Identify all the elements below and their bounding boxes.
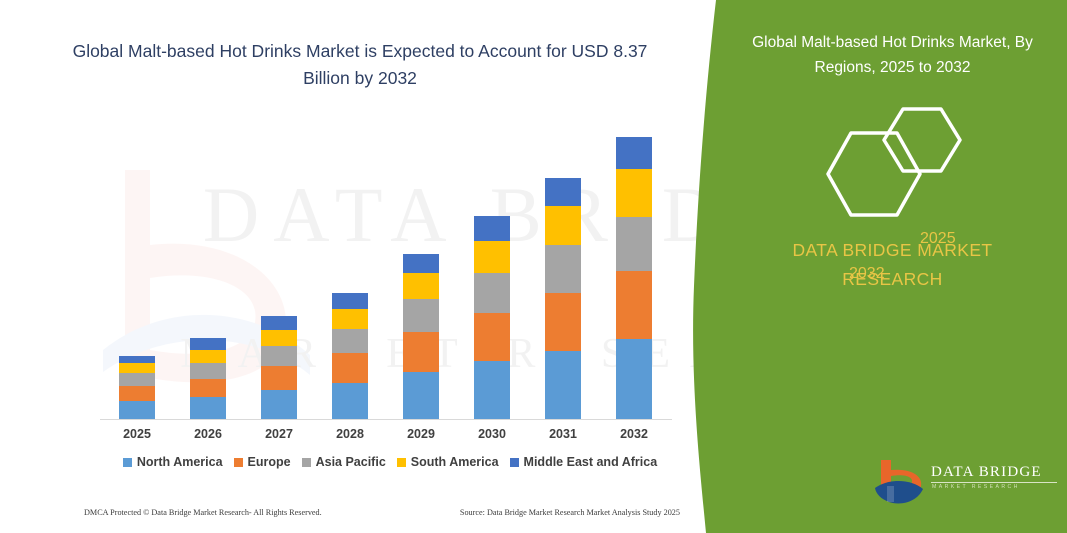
legend-label: North America xyxy=(137,455,223,469)
infographic-canvas: DATA BRIDGE MARKET RESEARCH Global Malt-… xyxy=(0,0,1067,533)
bar-segment-asia-pacific xyxy=(261,346,297,366)
chart-title: Global Malt-based Hot Drinks Market is E… xyxy=(60,38,660,92)
bar-group xyxy=(403,254,439,419)
bar-segment-asia-pacific xyxy=(616,217,652,271)
legend-label: Middle East and Africa xyxy=(524,455,658,469)
x-axis-label: 2032 xyxy=(604,427,664,441)
logo-tagline: MARKET RESEARCH xyxy=(932,484,1020,490)
bar-segment-europe xyxy=(474,313,510,361)
hexagon-large-2032 xyxy=(828,133,920,215)
x-axis-label: 2025 xyxy=(107,427,167,441)
x-axis-label: 2026 xyxy=(178,427,238,441)
bar-group xyxy=(332,293,368,419)
x-axis-line xyxy=(100,419,672,420)
brand-name: DATA BRIDGE MARKET RESEARCH xyxy=(730,236,1055,294)
bar-segment-asia-pacific xyxy=(545,245,581,293)
bar-segment-south-america xyxy=(190,350,226,363)
bar-segment-europe xyxy=(403,332,439,372)
bar-segment-europe xyxy=(190,379,226,397)
legend-item-south-america[interactable]: South America xyxy=(397,455,499,469)
legend-swatch-icon xyxy=(123,458,132,467)
bar-segment-south-america xyxy=(545,206,581,245)
legend-item-middle-east-and-africa[interactable]: Middle East and Africa xyxy=(510,455,658,469)
brand-panel-title: Global Malt-based Hot Drinks Market, By … xyxy=(730,30,1055,80)
x-axis-label: 2031 xyxy=(533,427,593,441)
legend-swatch-icon xyxy=(510,458,519,467)
bar-segment-europe xyxy=(261,366,297,390)
bar-segment-north-america xyxy=(332,383,368,419)
bar-segment-middle-east-and-africa xyxy=(616,137,652,169)
x-axis-label: 2027 xyxy=(249,427,309,441)
bar-segment-europe xyxy=(545,293,581,351)
chart-plot-area xyxy=(100,110,680,420)
brand-name-line-1: DATA BRIDGE MARKET xyxy=(730,236,1055,265)
bar-group xyxy=(119,356,155,419)
x-axis-labels: 20252026202720282029203020312032 xyxy=(100,427,680,445)
bar-group xyxy=(261,316,297,419)
bar-group xyxy=(545,178,581,419)
x-axis-label: 2028 xyxy=(320,427,380,441)
bar-segment-asia-pacific xyxy=(190,363,226,379)
bar-segment-middle-east-and-africa xyxy=(332,293,368,309)
bar-segment-south-america xyxy=(403,273,439,299)
bar-segment-asia-pacific xyxy=(119,373,155,386)
logo-divider xyxy=(931,482,1057,483)
bar-segment-middle-east-and-africa xyxy=(261,316,297,330)
bar-segment-asia-pacific xyxy=(332,329,368,353)
chart-panel: Global Malt-based Hot Drinks Market is E… xyxy=(0,0,720,533)
bar-segment-north-america xyxy=(474,361,510,419)
data-bridge-logo: DATA BRIDGE MARKET RESEARCH xyxy=(873,458,1063,510)
bar-segment-middle-east-and-africa xyxy=(474,216,510,241)
bar-segment-asia-pacific xyxy=(403,299,439,332)
x-axis-label: 2030 xyxy=(462,427,522,441)
bar-segment-middle-east-and-africa xyxy=(545,178,581,206)
bar-group xyxy=(474,216,510,419)
hexagon-small-2025 xyxy=(884,109,960,171)
legend-item-asia-pacific[interactable]: Asia Pacific xyxy=(302,455,386,469)
bar-group xyxy=(190,338,226,419)
brand-panel-content: Global Malt-based Hot Drinks Market, By … xyxy=(725,0,1067,533)
legend-label: South America xyxy=(411,455,499,469)
bar-segment-europe xyxy=(332,353,368,383)
bar-segment-south-america xyxy=(616,169,652,217)
bar-segment-middle-east-and-africa xyxy=(119,356,155,363)
x-axis-label: 2029 xyxy=(391,427,451,441)
bar-segment-south-america xyxy=(332,309,368,329)
footer-copyright: DMCA Protected © Data Bridge Market Rese… xyxy=(84,508,322,517)
legend-swatch-icon xyxy=(302,458,311,467)
hexagon-shapes-icon xyxy=(815,105,1005,220)
bar-segment-south-america xyxy=(119,363,155,373)
bar-segment-middle-east-and-africa xyxy=(403,254,439,273)
data-bridge-mark-icon xyxy=(873,458,925,506)
bar-segment-north-america xyxy=(545,351,581,419)
footer: DMCA Protected © Data Bridge Market Rese… xyxy=(84,508,680,517)
bar-segment-north-america xyxy=(403,372,439,419)
bar-segment-north-america xyxy=(190,397,226,419)
legend-swatch-icon xyxy=(397,458,406,467)
bar-segment-south-america xyxy=(474,241,510,273)
bar-segment-north-america xyxy=(119,401,155,419)
bar-segment-europe xyxy=(616,271,652,339)
legend-label: Europe xyxy=(248,455,291,469)
hexagon-group: 2032 2025 xyxy=(815,105,1005,220)
bar-segment-asia-pacific xyxy=(474,273,510,313)
bar-segment-south-america xyxy=(261,330,297,346)
bar-group xyxy=(616,137,652,419)
legend-swatch-icon xyxy=(234,458,243,467)
brand-name-line-2: RESEARCH xyxy=(730,265,1055,294)
bar-segment-north-america xyxy=(261,390,297,419)
logo-wordmark: DATA BRIDGE xyxy=(931,464,1042,481)
legend-item-north-america[interactable]: North America xyxy=(123,455,223,469)
chart-legend: North AmericaEuropeAsia PacificSouth Ame… xyxy=(100,455,680,469)
legend-item-europe[interactable]: Europe xyxy=(234,455,291,469)
bar-segment-middle-east-and-africa xyxy=(190,338,226,350)
bar-segment-europe xyxy=(119,386,155,401)
bar-segment-north-america xyxy=(616,339,652,419)
legend-label: Asia Pacific xyxy=(316,455,386,469)
footer-source: Source: Data Bridge Market Research Mark… xyxy=(460,508,680,517)
